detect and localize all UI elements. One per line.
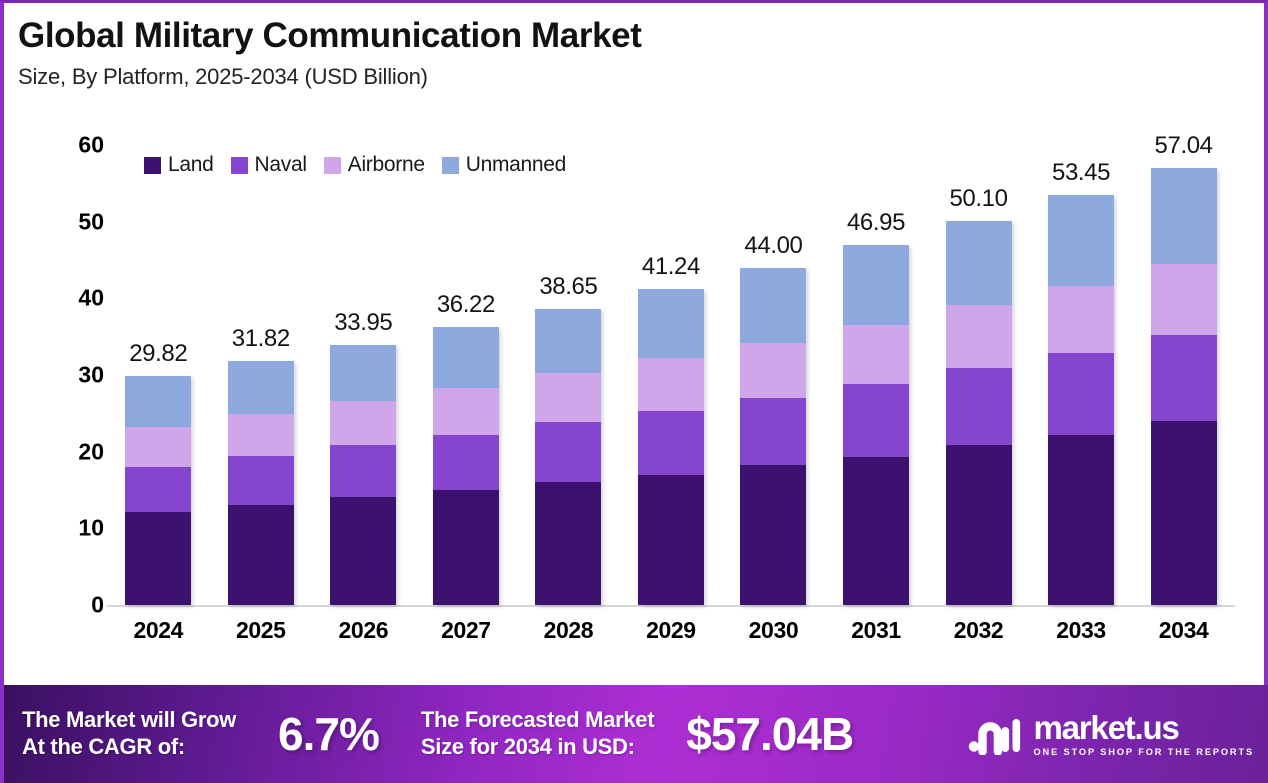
bar-segment-airborne[interactable] [125, 427, 191, 466]
cagr-value: 6.7% [278, 707, 379, 761]
x-axis-tick-2031: 2031 [825, 617, 927, 644]
brand-logo[interactable]: market.us ONE STOP SHOP FOR THE REPORTS [968, 711, 1254, 757]
bar-column-2025[interactable]: 31.82 [210, 121, 312, 605]
bar-segment-airborne[interactable] [535, 373, 601, 423]
x-axis-line [107, 605, 1235, 607]
plot-area: 0102030405060 29.8231.8233.9536.2238.654… [4, 121, 1268, 681]
y-axis-tick-10: 10 [78, 515, 104, 542]
legend-item-airborne[interactable]: Airborne [324, 153, 425, 177]
legend-swatch-icon [442, 157, 459, 174]
bar-column-2030[interactable]: 44.00 [722, 121, 824, 605]
bar-segment-unmanned[interactable] [433, 327, 499, 387]
y-axis-tick-60: 60 [78, 131, 104, 158]
bar-segment-unmanned[interactable] [228, 361, 294, 414]
chart-subtitle: Size, By Platform, 2025-2034 (USD Billio… [18, 64, 1264, 90]
bar-column-2027[interactable]: 36.22 [415, 121, 517, 605]
forecast-caption-line2: Size for 2034 in USD: [421, 734, 654, 761]
y-axis-tick-20: 20 [78, 438, 104, 465]
bar-segment-airborne[interactable] [843, 325, 909, 384]
bar-segment-unmanned[interactable] [1048, 195, 1114, 286]
x-axis-tick-2029: 2029 [620, 617, 722, 644]
y-axis-tick-40: 40 [78, 285, 104, 312]
bar-segment-airborne[interactable] [1151, 264, 1217, 335]
x-axis-tick-2026: 2026 [312, 617, 414, 644]
bar-column-2029[interactable]: 41.24 [620, 121, 722, 605]
y-axis-tick-30: 30 [78, 361, 104, 388]
x-axis: 2024202520262027202820292030203120322033… [107, 617, 1235, 644]
stacked-bar[interactable] [1151, 168, 1217, 605]
y-axis-tick-50: 50 [78, 208, 104, 235]
bar-segment-naval[interactable] [228, 456, 294, 505]
cagr-block: The Market will Grow At the CAGR of: 6.7… [4, 707, 379, 761]
cagr-caption: The Market will Grow At the CAGR of: [22, 707, 236, 761]
legend-swatch-icon [144, 157, 161, 174]
stacked-bar[interactable] [535, 309, 601, 605]
bar-segment-airborne[interactable] [638, 358, 704, 411]
bar-segment-naval[interactable] [638, 411, 704, 475]
x-axis-tick-2032: 2032 [928, 617, 1030, 644]
forecast-block: The Forecasted Market Size for 2034 in U… [379, 707, 853, 761]
bar-segment-naval[interactable] [1048, 353, 1114, 435]
bar-segment-naval[interactable] [740, 398, 806, 465]
bar-segment-land[interactable] [1151, 421, 1217, 605]
stacked-bar[interactable] [125, 376, 191, 605]
legend-swatch-icon [324, 157, 341, 174]
stacked-bar[interactable] [330, 345, 396, 605]
bar-segment-unmanned[interactable] [843, 245, 909, 325]
bar-segment-naval[interactable] [843, 384, 909, 456]
bar-column-2031[interactable]: 46.95 [825, 121, 927, 605]
bar-segment-naval[interactable] [1151, 335, 1217, 421]
bar-total-label: 38.65 [539, 273, 597, 301]
stacked-bar[interactable] [433, 327, 499, 605]
bar-segment-unmanned[interactable] [1151, 168, 1217, 264]
x-axis-tick-2033: 2033 [1030, 617, 1132, 644]
stacked-bar[interactable] [638, 289, 704, 605]
forecast-value: $57.04B [686, 707, 853, 761]
stacked-bar[interactable] [1048, 195, 1114, 605]
bar-segment-land[interactable] [535, 482, 601, 605]
bar-segment-land[interactable] [125, 512, 191, 605]
bar-segment-land[interactable] [1048, 435, 1114, 605]
bar-segment-naval[interactable] [125, 467, 191, 513]
bar-group: 29.8231.8233.9536.2238.6541.2444.0046.95… [107, 121, 1235, 605]
bar-segment-naval[interactable] [433, 435, 499, 490]
legend-label: Unmanned [466, 153, 566, 177]
page-title: Global Military Communication Market [18, 17, 1264, 55]
logo-text: market.us ONE STOP SHOP FOR THE REPORTS [1033, 711, 1254, 757]
stacked-bar[interactable] [228, 361, 294, 605]
forecast-caption-line1: The Forecasted Market [421, 707, 654, 734]
stacked-bar[interactable] [843, 245, 909, 605]
legend-label: Airborne [348, 153, 425, 177]
bar-segment-land[interactable] [843, 457, 909, 605]
x-axis-tick-2025: 2025 [210, 617, 312, 644]
legend-label: Naval [255, 153, 307, 177]
x-axis-tick-2027: 2027 [415, 617, 517, 644]
bar-total-label: 46.95 [847, 209, 905, 237]
market-us-logo-icon [968, 713, 1022, 755]
bar-segment-airborne[interactable] [330, 401, 396, 445]
bar-segment-unmanned[interactable] [330, 345, 396, 401]
bar-column-2033[interactable]: 53.45 [1030, 121, 1132, 605]
bar-total-label: 31.82 [232, 325, 290, 353]
bar-total-label: 50.10 [949, 185, 1007, 213]
bar-segment-unmanned[interactable] [125, 376, 191, 427]
x-axis-tick-2030: 2030 [722, 617, 824, 644]
bar-segment-naval[interactable] [535, 422, 601, 481]
forecast-caption: The Forecasted Market Size for 2034 in U… [421, 707, 654, 761]
bar-segment-unmanned[interactable] [535, 309, 601, 373]
x-axis-tick-2034: 2034 [1133, 617, 1235, 644]
bar-total-label: 41.24 [642, 253, 700, 281]
logo-tagline: ONE STOP SHOP FOR THE REPORTS [1033, 747, 1254, 757]
bar-segment-land[interactable] [638, 475, 704, 605]
bar-segment-land[interactable] [946, 445, 1012, 605]
bar-column-2026[interactable]: 33.95 [312, 121, 414, 605]
bar-segment-land[interactable] [228, 505, 294, 605]
bar-segment-unmanned[interactable] [638, 289, 704, 358]
bar-segment-naval[interactable] [946, 368, 1012, 445]
x-axis-tick-2024: 2024 [107, 617, 209, 644]
bar-column-2034[interactable]: 57.04 [1133, 121, 1235, 605]
bar-segment-airborne[interactable] [433, 388, 499, 435]
bar-segment-land[interactable] [740, 465, 806, 605]
bar-segment-airborne[interactable] [1048, 286, 1114, 353]
cagr-caption-line1: The Market will Grow [22, 707, 236, 734]
bar-segment-airborne[interactable] [228, 414, 294, 456]
bar-total-label: 44.00 [744, 232, 802, 260]
y-axis-tick-0: 0 [91, 592, 104, 619]
bar-total-label: 36.22 [437, 291, 495, 319]
logo-wordmark: market.us [1033, 711, 1178, 744]
bar-column-2024[interactable]: 29.82 [107, 121, 209, 605]
bar-segment-airborne[interactable] [946, 305, 1012, 368]
stacked-bar[interactable] [740, 268, 806, 605]
legend-item-land[interactable]: Land [144, 153, 214, 177]
chart-header: Global Military Communication Market Siz… [4, 3, 1264, 90]
y-axis: 0102030405060 [42, 121, 104, 606]
legend-item-unmanned[interactable]: Unmanned [442, 153, 566, 177]
cagr-caption-line2: At the CAGR of: [22, 734, 236, 761]
bar-total-label: 29.82 [129, 340, 187, 368]
legend-item-naval[interactable]: Naval [231, 153, 307, 177]
bar-segment-unmanned[interactable] [740, 268, 806, 344]
legend-swatch-icon [231, 157, 248, 174]
bar-column-2032[interactable]: 50.10 [928, 121, 1030, 605]
bar-segment-unmanned[interactable] [946, 221, 1012, 305]
bar-segment-airborne[interactable] [740, 343, 806, 398]
legend-label: Land [168, 153, 214, 177]
bar-total-label: 53.45 [1052, 159, 1110, 187]
bar-column-2028[interactable]: 38.65 [517, 121, 619, 605]
bar-total-label: 57.04 [1155, 132, 1213, 160]
footer-banner: The Market will Grow At the CAGR of: 6.7… [4, 685, 1268, 783]
stacked-bar[interactable] [946, 221, 1012, 605]
bar-total-label: 33.95 [334, 309, 392, 337]
x-axis-tick-2028: 2028 [517, 617, 619, 644]
bar-segment-land[interactable] [330, 497, 396, 605]
bar-segment-naval[interactable] [330, 445, 396, 497]
infographic-root: Global Military Communication Market Siz… [0, 0, 1268, 783]
bar-segment-land[interactable] [433, 490, 499, 605]
chart-legend: LandNavalAirborneUnmanned [144, 153, 566, 177]
